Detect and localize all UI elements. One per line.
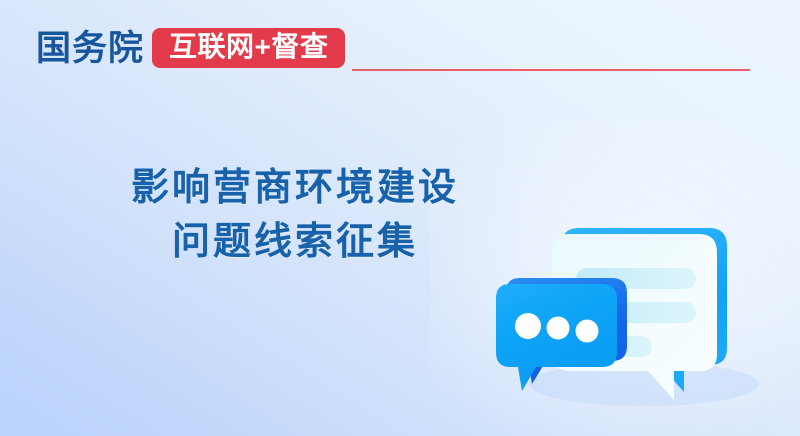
large-bubble-highlight	[704, 240, 717, 371]
banner: 国务院 互联网+督查 影响营商环境建设 问题线索征集	[0, 0, 800, 436]
program-badge: 互联网+督查	[152, 28, 345, 68]
dot-1	[515, 313, 541, 339]
program-badge-label: 互联网+督查	[169, 33, 328, 61]
header-divider-rule	[352, 69, 750, 71]
banner-header: 国务院 互联网+督查	[36, 24, 345, 72]
dot-3	[576, 320, 599, 343]
speech-bubbles-illustration	[484, 214, 784, 426]
gov-label: 国务院	[36, 31, 144, 66]
page-title-line-1: 影响营商环境建设	[0, 162, 590, 216]
dot-2	[547, 317, 570, 340]
